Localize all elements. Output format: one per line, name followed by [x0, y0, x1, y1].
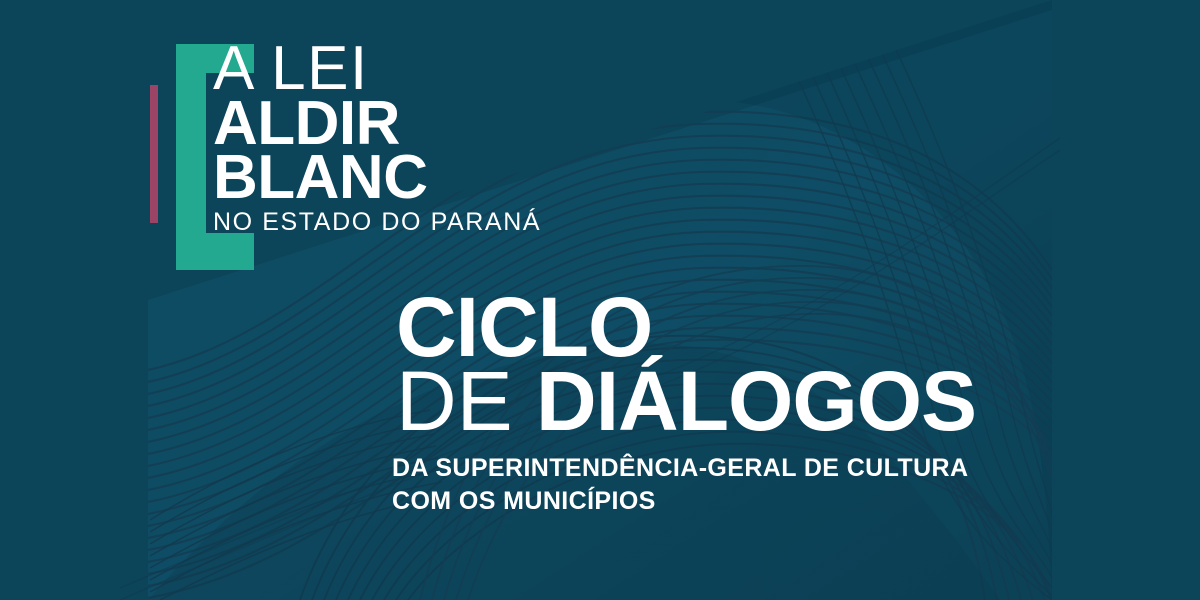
headline-row-ciclo: CICLO: [396, 292, 1096, 363]
aldir-blanc-logo-lockup: A LEI ALDIR BLANC NO ESTADO DO PARANÁ: [148, 44, 568, 270]
bracket-stem: [176, 44, 206, 270]
logo-line-no-estado-do-parana: NO ESTADO DO PARANÁ: [213, 210, 573, 235]
headline-word-de: DE: [396, 354, 513, 448]
headline-row-de-dialogos: DE DIÁLOGOS: [396, 365, 1096, 439]
headline-word-dialogos: DIÁLOGOS: [536, 354, 976, 448]
subtitle-line-1: DA SUPERINTENDÊNCIA-GERAL DE CULTURA: [392, 452, 1092, 485]
subtitle-line-2: COM OS MUNICÍPIOS: [392, 485, 1092, 518]
vertical-bar-mark-icon: [150, 85, 158, 223]
page-subtitle: DA SUPERINTENDÊNCIA-GERAL DE CULTURA COM…: [392, 452, 1092, 518]
logo-text-block: A LEI ALDIR BLANC NO ESTADO DO PARANÁ: [213, 40, 573, 235]
page-title: CICLO DE DIÁLOGOS: [396, 292, 1096, 438]
logo-line-blanc: BLANC: [213, 149, 573, 207]
bracket-arm-bottom: [206, 233, 254, 270]
poster-banner: A LEI ALDIR BLANC NO ESTADO DO PARANÁ CI…: [0, 0, 1200, 600]
